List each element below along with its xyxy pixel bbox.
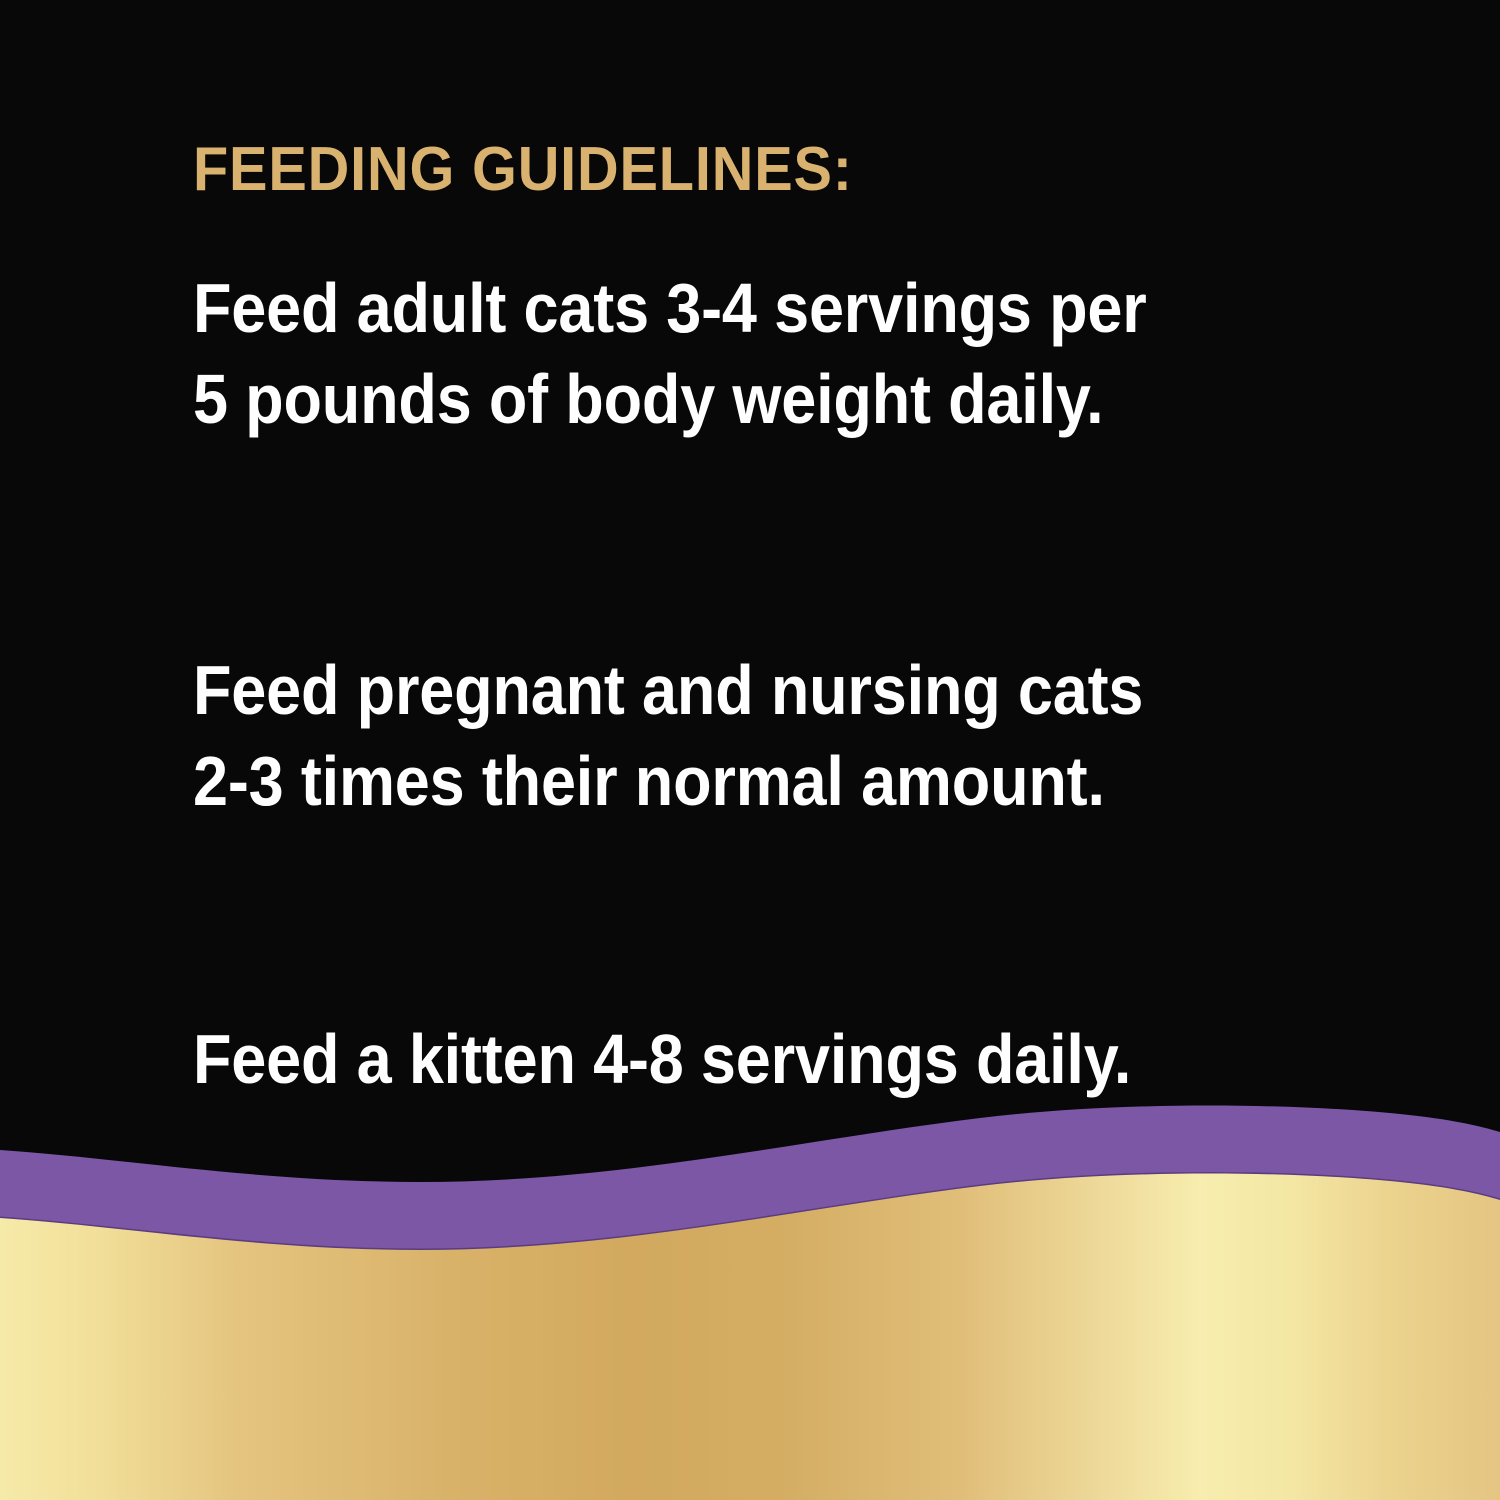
guideline-pregnant-nursing-cats: Feed pregnant and nursing cats 2-3 times… — [193, 645, 1201, 827]
guideline-adult-cats-line-2: 5 pounds of body weight daily. — [193, 354, 1201, 445]
feeding-guidelines-panel: FEEDING GUIDELINES: Feed adult cats 3-4 … — [0, 0, 1500, 1500]
spacer-2 — [193, 827, 1313, 1014]
guideline-pregnant-line-1: Feed pregnant and nursing cats — [193, 645, 1201, 736]
page-title: FEEDING GUIDELINES: — [193, 139, 1235, 201]
guideline-kitten-line-1: Feed a kitten 4-8 servings daily. — [193, 1014, 1201, 1105]
guideline-adult-cats-line-1: Feed adult cats 3-4 servings per — [193, 263, 1201, 354]
spacer-1 — [193, 445, 1313, 645]
guideline-pregnant-line-2: 2-3 times their normal amount. — [193, 736, 1201, 827]
bottom-wave-decoration — [0, 1100, 1500, 1500]
guideline-adult-cats: Feed adult cats 3-4 servings per 5 pound… — [193, 263, 1201, 445]
guidelines-content: FEEDING GUIDELINES: Feed adult cats 3-4 … — [193, 139, 1313, 1105]
guideline-kitten: Feed a kitten 4-8 servings daily. — [193, 1014, 1201, 1105]
